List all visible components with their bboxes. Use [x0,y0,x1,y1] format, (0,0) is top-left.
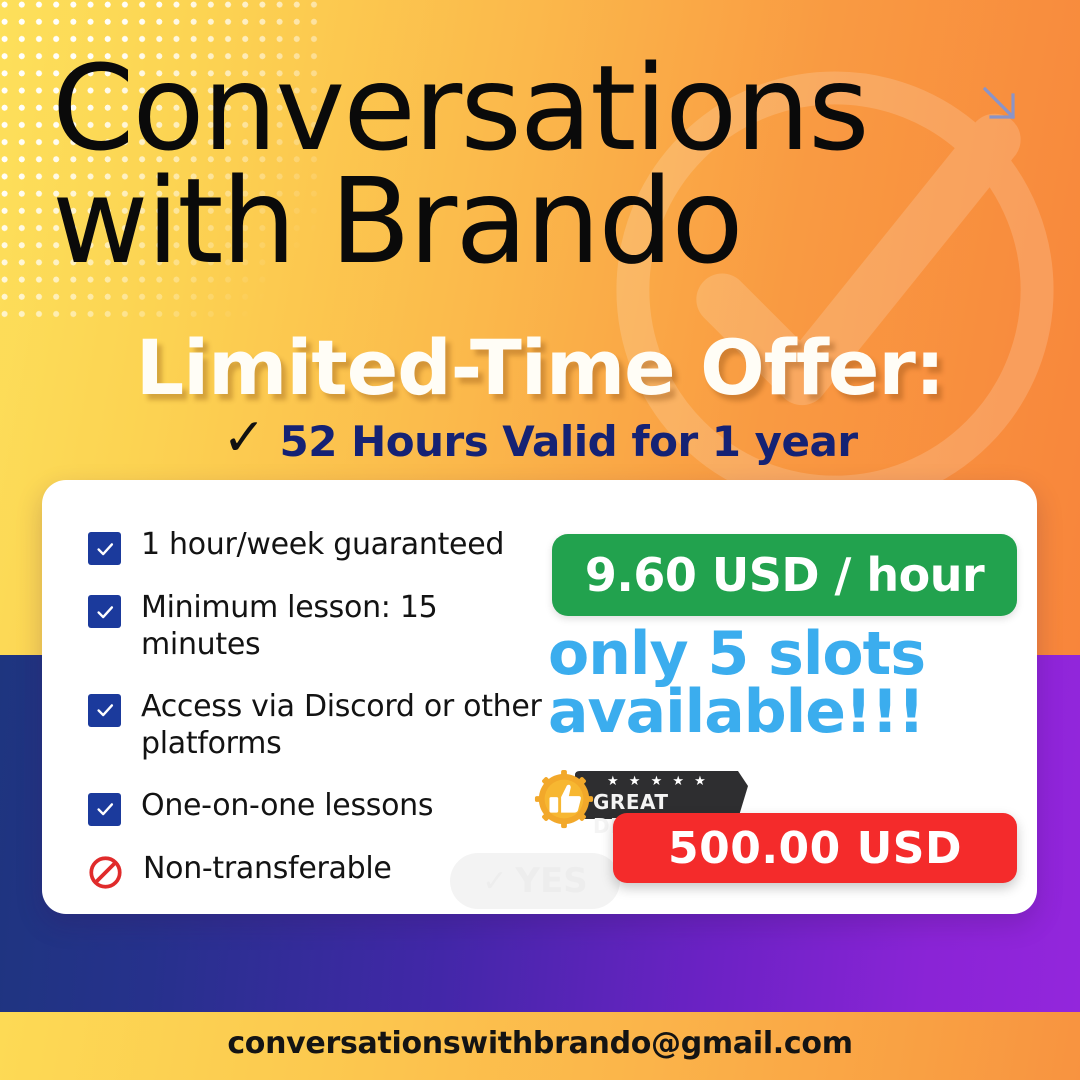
arrow-down-right-icon [978,82,1022,126]
thumbs-up-starburst-icon [533,768,595,830]
list-item: Access via Discord or other platforms [88,689,548,763]
feature-list: 1 hour/week guaranteed Minimum lesson: 1… [88,527,548,915]
list-item: Non-transferable [88,851,548,890]
prohibited-icon [88,855,123,890]
feature-label: Non-transferable [143,851,392,888]
offer-subline: 52 Hours Valid for 1 year [280,417,858,466]
slots-line-2: available!!! [548,683,1018,741]
checkbox-checked-icon [88,595,121,628]
feature-label: 1 hour/week guaranteed [141,527,504,564]
list-item: One-on-one lessons [88,788,548,826]
offer-headline: Limited-Time Offer: [0,330,1080,406]
list-item: Minimum lesson: 15 minutes [88,590,548,664]
checkbox-checked-icon [88,532,121,565]
great-deal-stars: ★ ★ ★ ★ ★ [607,774,709,789]
list-item: 1 hour/week guaranteed [88,527,548,565]
offer-subline-row: ✓ 52 Hours Valid for 1 year [0,415,1080,467]
feature-label: One-on-one lessons [141,788,433,825]
check-mark-icon: ✓ [222,412,265,464]
total-price-button[interactable]: 500.00 USD [613,813,1017,883]
feature-label: Minimum lesson: 15 minutes [141,590,548,664]
contact-email[interactable]: conversationswithbrando@gmail.com [0,1026,1080,1061]
checkbox-checked-icon [88,694,121,727]
feature-label: Access via Discord or other platforms [141,689,548,763]
hourly-rate-badge: 9.60 USD / hour [552,534,1017,616]
promo-poster: Conversations with Brando Limited-Time O… [0,0,1080,1080]
slots-availability-text: only 5 slots available!!! [548,625,1018,741]
checkbox-checked-icon [88,793,121,826]
page-title: Conversations with Brando [52,52,982,279]
slots-line-1: only 5 slots [548,625,1018,683]
